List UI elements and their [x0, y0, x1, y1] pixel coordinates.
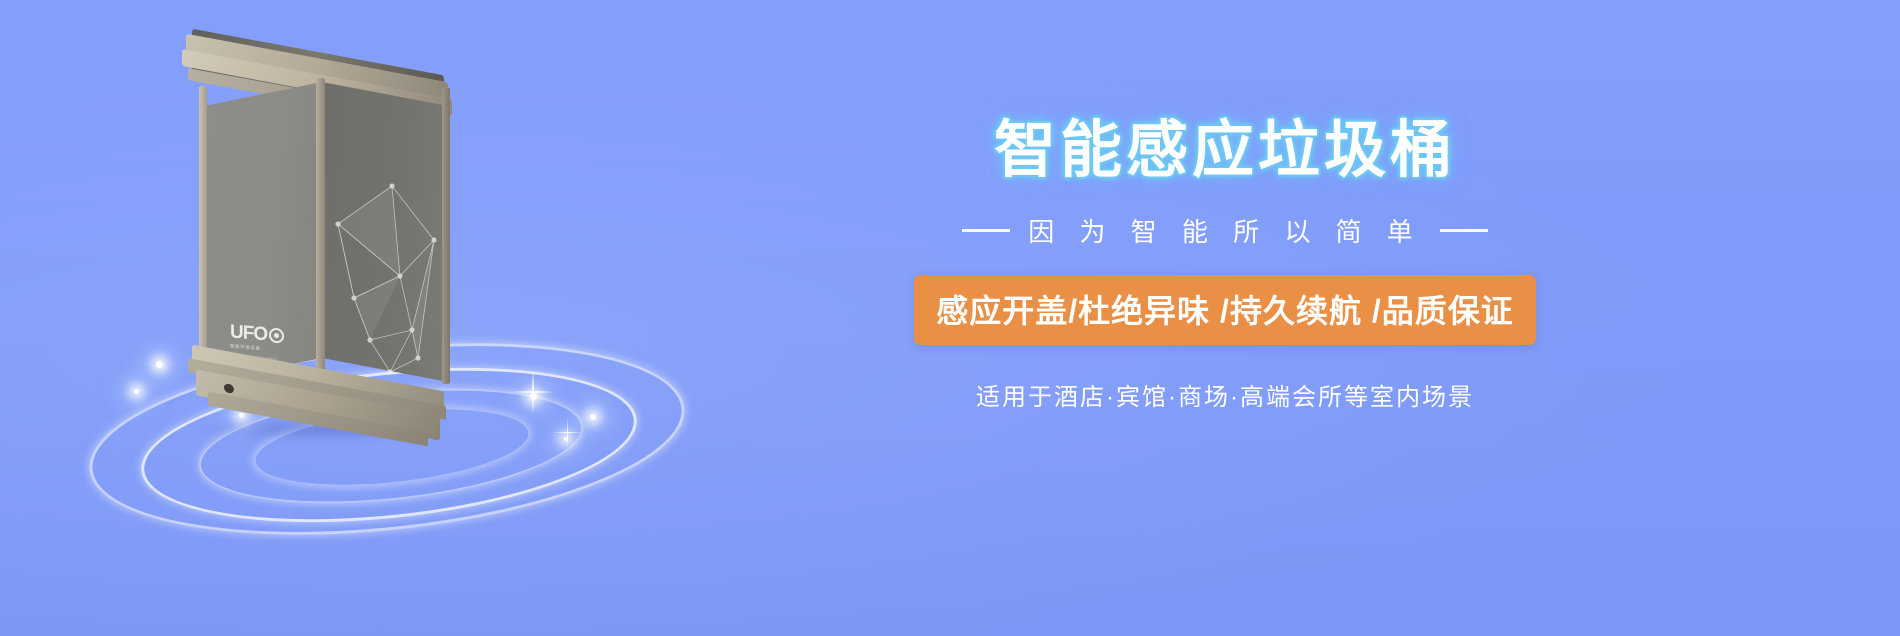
bin-edge-corner	[316, 78, 325, 384]
sparkle-icon	[156, 361, 163, 368]
subtitle-row: 因 为 智 能 所 以 简 单	[880, 212, 1570, 249]
page-title: 智能感应垃圾桶	[880, 120, 1570, 182]
marketing-copy-block: 智能感应垃圾桶 因 为 智 能 所 以 简 单 感应开盖/杜绝异味 /持久续航 …	[880, 120, 1570, 412]
sparkle-icon	[134, 389, 139, 394]
usage-scenario-text: 适用于酒店·宾馆·商场·高端会所等室内场景	[880, 377, 1570, 412]
sparkle-icon	[590, 414, 596, 420]
subtitle-rule-right	[1440, 229, 1488, 232]
product-image: UFO 智能环保设备 深圳市优福欧科技有限公司出品	[70, 30, 720, 530]
star-glint-icon	[567, 418, 568, 448]
bin-edge-left	[199, 86, 207, 387]
bin-edge-right	[442, 88, 450, 385]
feature-highlight-badge: 感应开盖/杜绝异味 /持久续航 /品质保证	[914, 275, 1535, 345]
brand-logo-text: UFO	[230, 322, 267, 344]
network-pattern-graphic	[330, 180, 442, 380]
product-promo-banner: UFO 智能环保设备 深圳市优福欧科技有限公司出品 智能感应垃圾桶 因 为 智 …	[0, 0, 1900, 636]
subtitle-rule-left	[962, 229, 1010, 232]
brand-logo-ring-icon	[269, 327, 284, 343]
star-glint-icon	[532, 370, 534, 414]
brand-logo-mark: UFO	[230, 322, 296, 346]
trash-bin-render: UFO 智能环保设备 深圳市优福欧科技有限公司出品	[180, 30, 490, 430]
subtitle-text: 因 为 智 能 所 以 简 单	[1028, 212, 1422, 249]
